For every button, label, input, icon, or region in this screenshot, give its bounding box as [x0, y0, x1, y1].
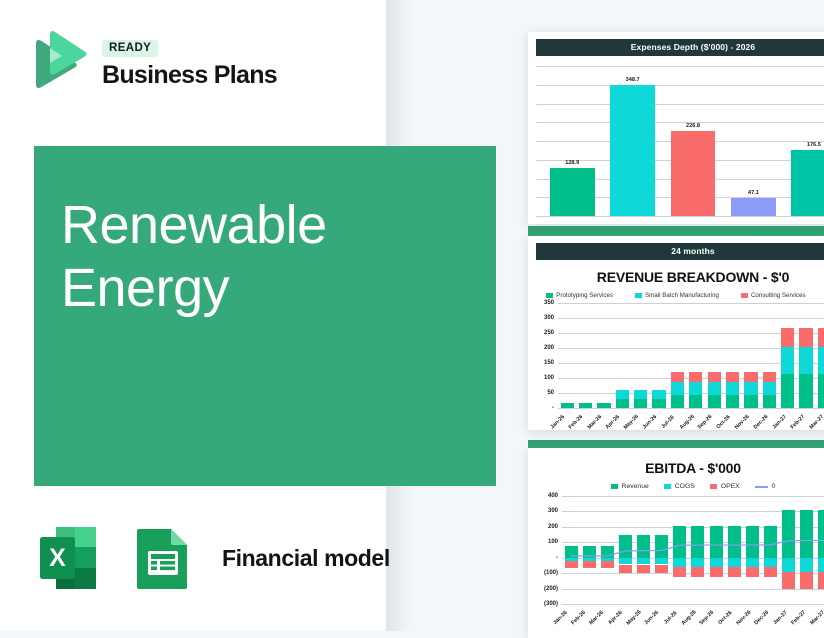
bar-slot: 128.9 [542, 66, 602, 216]
bar-value-label: 128.9 [565, 160, 579, 166]
bar-slot [705, 303, 723, 408]
plot-inner [558, 303, 824, 408]
y-axis-tick: (300) [544, 601, 558, 607]
gridline [562, 604, 824, 605]
google-sheets-icon [126, 521, 200, 595]
bar-slot [742, 303, 760, 408]
bar-slot [613, 303, 631, 408]
y-axis-tick: 200 [544, 345, 554, 351]
x-label-slot: Mar-27 [815, 612, 824, 638]
y-axis-tick: 300 [548, 508, 558, 514]
y-axis-tick: 100 [548, 539, 558, 545]
plot-inner [562, 496, 824, 604]
bar-segment [781, 328, 794, 347]
ebitda-chart-title: EBITDA - $'000 [528, 460, 824, 476]
bar-segment [763, 372, 776, 382]
y-axis-tick: 350 [544, 300, 554, 306]
bar-segment [597, 403, 610, 408]
ebitda-x-axis-labels: Jan-26Feb-26Mar-26Apr-26May-26Jun-26Jul-… [558, 612, 824, 638]
bar-slot: 47.1 [723, 66, 783, 216]
revenue-chart-legend: Prototyping ServicesSmall Batch Manufact… [528, 292, 824, 299]
bar-segment [634, 390, 647, 399]
expenses-plot-area: 128.9348.7226.847.1176.5 [536, 66, 824, 216]
bar-slot [558, 303, 576, 408]
legend-swatch [546, 293, 553, 298]
bar-slot: 348.7 [602, 66, 662, 216]
bar-segment [799, 328, 812, 347]
bar-segment [708, 395, 721, 408]
legend-label: OPEX [721, 483, 740, 490]
bar-segment [652, 390, 665, 399]
revenue-x-axis-labels: Jan-26Feb-26Mar-26Apr-26May-26Jun-26Jul-… [556, 416, 824, 430]
bar-segment [799, 374, 812, 408]
bar-segment [818, 374, 824, 408]
bar-segment [744, 395, 757, 408]
bar-slot [595, 303, 613, 408]
bar-segment [726, 395, 739, 408]
bar-slot: 226.8 [663, 66, 723, 216]
bar-segment [616, 399, 629, 408]
y-axis-tick: 50 [547, 390, 554, 396]
legend-label: Small Batch Manufacturing [645, 292, 719, 299]
y-axis-tick: 250 [544, 330, 554, 336]
y-axis-tick: (100) [544, 570, 558, 576]
revenue-chart-card: 24 months REVENUE BREAKDOWN - $'0 Protot… [528, 236, 824, 430]
bar-slot [815, 303, 824, 408]
legend-swatch [635, 293, 642, 298]
brand-header: READY Business Plans [28, 30, 277, 92]
revenue-chart-title: REVENUE BREAKDOWN - $'0 [528, 269, 824, 285]
bar-value-label: 47.1 [748, 190, 759, 196]
legend-label: COGS [675, 483, 695, 490]
revenue-band-label: 24 months [536, 243, 824, 260]
svg-text:X: X [49, 544, 66, 572]
bar-segment [689, 372, 702, 382]
brand-text-block: READY Business Plans [102, 34, 277, 88]
bar-segment [763, 395, 776, 408]
bar-segment [671, 382, 684, 394]
y-axis-tick: 400 [548, 493, 558, 499]
bar-value-label: 176.5 [807, 142, 821, 148]
page-title: Renewable Energy [61, 194, 327, 319]
bar-segment [781, 347, 794, 375]
hero-block: Renewable Energy [34, 146, 496, 486]
bar-slot [687, 303, 705, 408]
y-axis-tick: 300 [544, 315, 554, 321]
excel-file-icon: X [34, 521, 108, 595]
ebitda-chart-legend: RevenueCOGSOPEX0 [528, 483, 824, 490]
expenses-chart-title: Expenses Depth ($'000) - 2026 [536, 39, 824, 56]
bar: 348.7 [610, 85, 655, 216]
bar-value-label: 348.7 [626, 77, 640, 83]
gridline [558, 408, 824, 409]
bar-segment [744, 372, 757, 382]
bar: 226.8 [671, 131, 716, 216]
x-label-slot: Mar-27 [815, 416, 824, 430]
bar-slot [797, 303, 815, 408]
bar-segment [689, 395, 702, 408]
bar-segment [579, 403, 592, 408]
legend-item: COGS [664, 483, 695, 490]
legend-swatch [664, 484, 671, 489]
legend-label: Prototyping Services [556, 292, 613, 299]
legend-item: Small Batch Manufacturing [635, 292, 719, 299]
y-axis-tick: - [556, 555, 558, 561]
bar-slot [779, 303, 797, 408]
legend-item: Revenue [611, 483, 649, 490]
y-axis-labels: 400300200100-(100)(200)(300) [534, 496, 560, 604]
bar-segment [818, 328, 824, 347]
footer-caption: Financial model [222, 545, 390, 572]
y-axis-tick: 100 [544, 375, 554, 381]
bar-slot [668, 303, 686, 408]
bar-slot: 176.5 [784, 66, 824, 216]
legend-label: Revenue [622, 483, 649, 490]
bar-slot [632, 303, 650, 408]
bar-segment [726, 382, 739, 394]
footer-block: X Financial model [34, 521, 390, 595]
y-axis-labels: 35030025020015010050- [534, 303, 556, 408]
bar-segment [634, 399, 647, 408]
legend-item: OPEX [710, 483, 740, 490]
bar-group: 128.9348.7226.847.1176.5 [536, 66, 824, 216]
play-logo-icon [28, 30, 88, 92]
bar-segment [781, 374, 794, 408]
ebitda-zero-line [562, 496, 824, 604]
bar-segment [763, 382, 776, 394]
y-axis-tick: 200 [548, 524, 558, 530]
legend-swatch [755, 486, 768, 488]
ebitda-plot-area: 400300200100-(100)(200)(300) [534, 496, 824, 604]
legend-item: Prototyping Services [546, 292, 613, 299]
bar: 128.9 [550, 168, 595, 216]
brand-name: Business Plans [102, 62, 277, 88]
bar-segment [671, 395, 684, 408]
bar-segment [818, 347, 824, 375]
legend-swatch [741, 293, 748, 298]
legend-item: 0 [755, 483, 776, 490]
bar-segment [561, 403, 574, 408]
bar-slot [723, 303, 741, 408]
bar-segment [671, 372, 684, 382]
bar: 47.1 [731, 198, 776, 216]
bar-segment [708, 382, 721, 394]
bar-slot [576, 303, 594, 408]
bar-segment [744, 382, 757, 394]
y-axis-tick: (200) [544, 586, 558, 592]
bar-segment [652, 399, 665, 408]
expenses-chart-card: Expenses Depth ($'000) - 2026 128.9348.7… [528, 32, 824, 224]
bar-segment [799, 347, 812, 375]
bar-segment [689, 382, 702, 394]
bar-slot [650, 303, 668, 408]
y-axis-tick: 150 [544, 360, 554, 366]
y-axis-tick: - [552, 405, 554, 411]
legend-swatch [710, 484, 717, 489]
legend-item: Consulting Services [741, 292, 806, 299]
ready-badge: READY [102, 40, 158, 57]
legend-label: Consulting Services [751, 292, 806, 299]
bar-segment [616, 390, 629, 399]
bar-value-label: 226.8 [686, 123, 700, 129]
gridline [536, 216, 824, 217]
bar-segment [708, 372, 721, 382]
bar: 176.5 [791, 150, 824, 216]
bar-slot [760, 303, 778, 408]
bar-segment [726, 372, 739, 382]
legend-swatch [611, 484, 618, 489]
bar-group [558, 303, 824, 408]
x-label-slot: Jun-26 [650, 612, 668, 638]
legend-label: 0 [772, 483, 776, 490]
ebitda-chart-card: EBITDA - $'000 RevenueCOGSOPEX0 40030020… [528, 448, 824, 638]
revenue-plot-area: 35030025020015010050- [534, 303, 824, 408]
